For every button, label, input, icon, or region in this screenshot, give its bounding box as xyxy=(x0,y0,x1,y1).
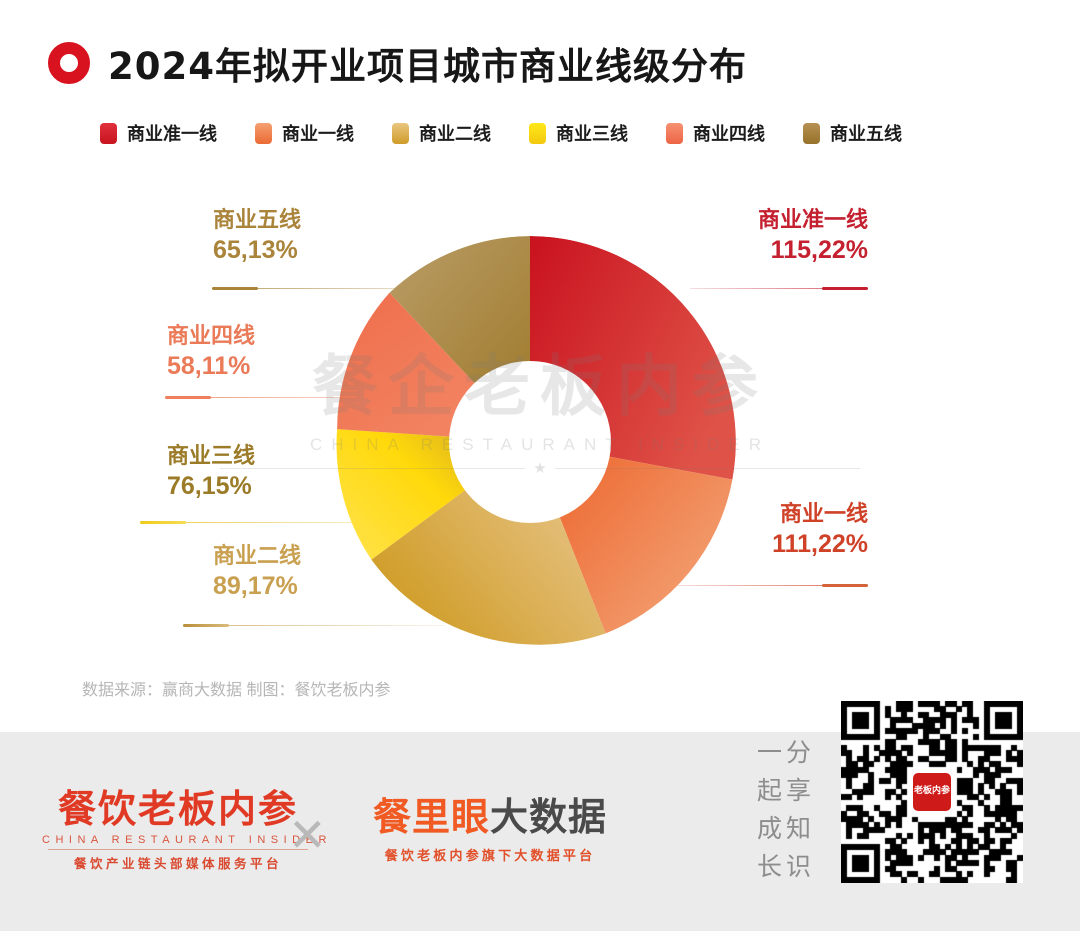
qr-center-logo-text: 老板内参 xyxy=(914,787,950,796)
callout-shangye-erxian: 商业二线 89,17% xyxy=(213,542,493,602)
qr-caption-char: 享 xyxy=(786,772,811,810)
legend-item-4[interactable]: 商业四线 xyxy=(666,120,765,146)
brand-logo-insider-en: CHINA RESTAURANT INSIDER xyxy=(42,834,314,846)
brand-logo-canliyan: 餐里眼大数据 餐饮老板内参旗下大数据平台 xyxy=(330,798,650,864)
callout-name: 商业一线 xyxy=(600,500,868,528)
legend-item-2[interactable]: 商业二线 xyxy=(392,120,491,146)
qr-caption: 一 起 成 长 分 享 知 识 xyxy=(757,734,811,886)
callout-name: 商业五线 xyxy=(213,206,493,234)
callout-name: 商业二线 xyxy=(213,542,493,570)
legend-label: 商业一线 xyxy=(282,120,354,146)
qr-caption-char: 起 xyxy=(757,772,782,810)
ring-icon xyxy=(48,42,90,84)
source-note: 数据来源：赢商大数据 制图：餐饮老板内参 xyxy=(82,676,390,700)
chart-legend: 商业准一线 商业一线 商业二线 商业三线 商业四线 商业五线 xyxy=(100,120,940,146)
qr-caption-char: 一 xyxy=(757,734,782,772)
callout-shangye-sixian: 商业四线 58,11% xyxy=(167,322,447,382)
page-title: 2024年拟开业项目城市商业线级分布 xyxy=(48,36,747,90)
callout-value: 65,13% xyxy=(213,234,493,267)
qr-caption-char: 成 xyxy=(757,810,782,848)
legend-label: 商业二线 xyxy=(419,120,491,146)
callout-shangye-yixian: 商业一线 111,22% xyxy=(600,500,868,560)
legend-label: 商业五线 xyxy=(830,120,902,146)
qr-caption-col-right: 分 享 知 识 xyxy=(786,734,811,886)
callout-shangye-sanxian: 商业三线 76,15% xyxy=(167,442,447,502)
qr-center-logo: 老板内参 xyxy=(913,773,951,811)
brand-logo-canliyan-zh-b: 大数据 xyxy=(490,795,607,839)
brand-logo-divider xyxy=(48,849,308,850)
infographic-page: 2024年拟开业项目城市商业线级分布 商业准一线 商业一线 商业二线 商业三线 xyxy=(0,0,1080,931)
legend-item-0[interactable]: 商业准一线 xyxy=(100,120,217,146)
qr-code[interactable]: 老板内参 xyxy=(841,701,1023,883)
legend-item-5[interactable]: 商业五线 xyxy=(803,120,902,146)
page-title-text: 2024年拟开业项目城市商业线级分布 xyxy=(108,36,747,90)
qr-caption-char: 长 xyxy=(757,848,782,886)
callout-name: 商业准一线 xyxy=(600,206,868,234)
brand-logo-insider: 餐饮老板内参 CHINA RESTAURANT INSIDER 餐饮产业链头部媒… xyxy=(42,790,314,872)
callout-shangye-zhunyixian: 商业准一线 115,22% xyxy=(600,206,868,266)
callout-name: 商业三线 xyxy=(167,442,447,470)
legend-label: 商业四线 xyxy=(693,120,765,146)
legend-item-3[interactable]: 商业三线 xyxy=(529,120,628,146)
segment-shangye-zhunyixian[interactable] xyxy=(530,236,736,480)
brand-logo-canliyan-tagline: 餐饮老板内参旗下大数据平台 xyxy=(330,845,650,864)
callout-value: 115,22% xyxy=(600,234,868,267)
brand-logo-insider-zh: 餐饮老板内参 xyxy=(42,790,314,830)
chart-card: 2024年拟开业项目城市商业线级分布 商业准一线 商业一线 商业二线 商业三线 xyxy=(0,0,1080,732)
brand-logo-canliyan-zh-a: 餐里眼 xyxy=(373,795,490,839)
brand-logo-canliyan-zh: 餐里眼大数据 xyxy=(330,798,650,838)
legend-swatch-icon xyxy=(666,123,683,144)
callout-shangye-wuxian: 商业五线 65,13% xyxy=(213,206,493,266)
callout-value: 89,17% xyxy=(213,570,493,603)
qr-caption-char: 识 xyxy=(786,848,811,886)
qr-caption-char: 分 xyxy=(786,734,811,772)
legend-swatch-icon xyxy=(529,123,546,144)
legend-swatch-icon xyxy=(803,123,820,144)
qr-caption-col-left: 一 起 成 长 xyxy=(757,734,782,886)
legend-swatch-icon xyxy=(255,123,272,144)
legend-item-1[interactable]: 商业一线 xyxy=(255,120,354,146)
legend-label: 商业三线 xyxy=(556,120,628,146)
brand-logo-insider-tagline: 餐饮产业链头部媒体服务平台 xyxy=(42,853,314,872)
callout-value: 76,15% xyxy=(167,470,447,503)
callout-value: 58,11% xyxy=(167,350,447,383)
callout-value: 111,22% xyxy=(600,528,868,561)
callout-name: 商业四线 xyxy=(167,322,447,350)
legend-swatch-icon xyxy=(100,123,117,144)
qr-caption-char: 知 xyxy=(786,810,811,848)
legend-label: 商业准一线 xyxy=(127,120,217,146)
legend-swatch-icon xyxy=(392,123,409,144)
cross-icon: ✕ xyxy=(288,812,327,858)
